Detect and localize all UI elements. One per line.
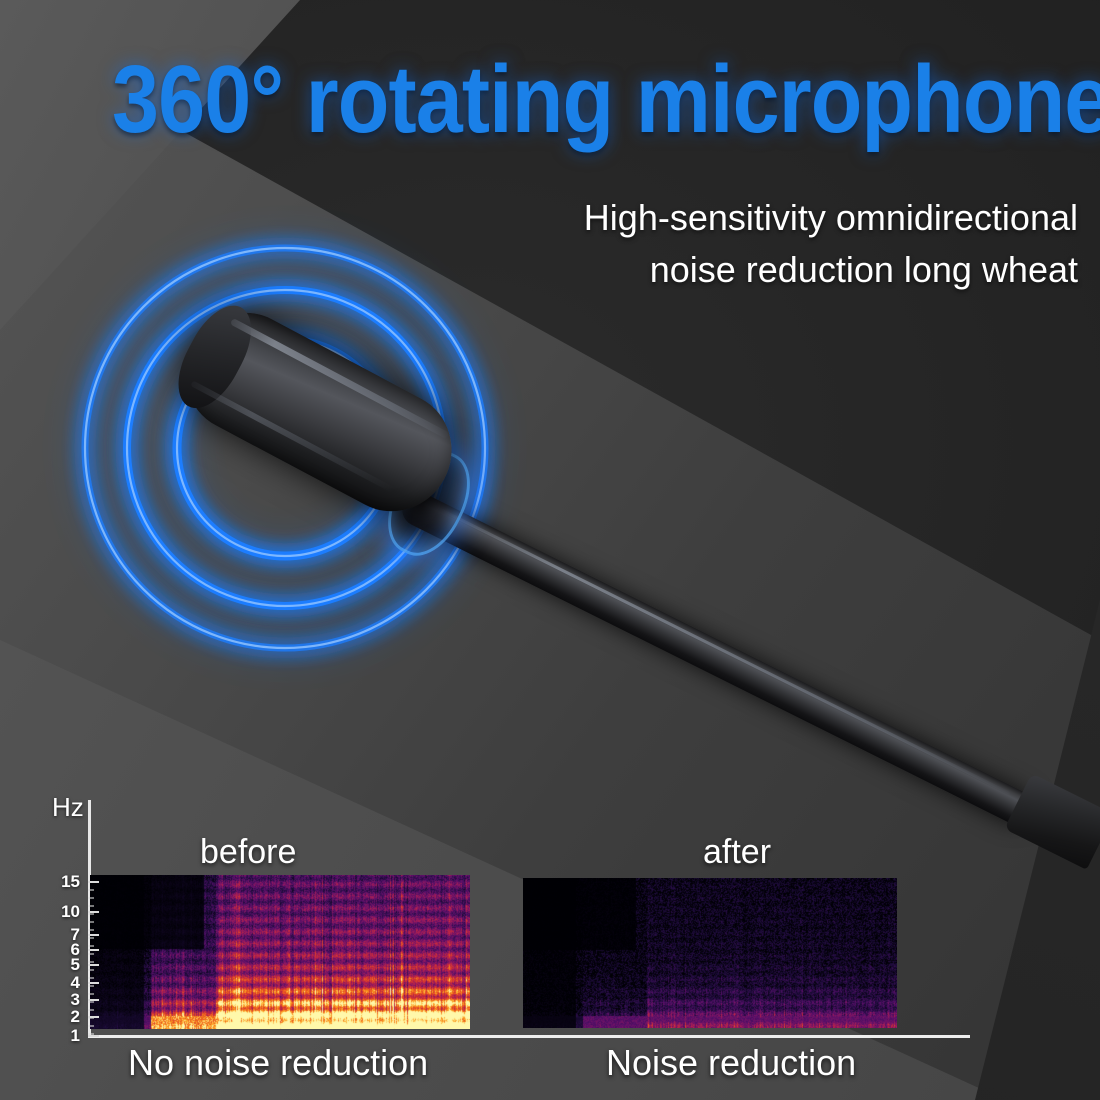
x-axis-line [88,1035,970,1038]
y-minor-tick [88,897,94,899]
y-minor-tick [88,953,94,955]
y-minor-tick [88,905,94,907]
y-minor-tick [88,889,94,891]
after-footer-label: Noise reduction [606,1042,856,1084]
subtitle: High-sensitivity omnidirectional noise r… [438,192,1078,296]
y-minor-tick [88,993,94,995]
y-tick-mark [88,949,99,951]
page-title: 360° rotating microphone [112,52,974,148]
y-minor-tick [88,1033,94,1035]
y-tick-mark [88,964,99,966]
y-tick-label: 2 [0,1007,80,1027]
y-minor-tick [88,929,94,931]
subtitle-line-1: High-sensitivity omnidirectional [438,192,1078,244]
y-minor-tick [88,937,94,939]
y-minor-tick [88,1009,94,1011]
y-tick-mark [88,881,99,883]
y-minor-tick [88,921,94,923]
y-tick-mark [88,934,99,936]
after-caption: after [703,833,771,872]
y-minor-tick [88,969,94,971]
y-minor-tick [88,1025,94,1027]
subtitle-line-2: noise reduction long wheat [438,244,1078,296]
before-footer-label: No noise reduction [128,1042,428,1084]
y-minor-tick [88,1017,94,1019]
y-tick-label: 10 [0,902,80,922]
product-banner: 360° rotating microphone High-sensitivit… [0,0,1100,1100]
spectrogram-after [523,878,897,1028]
y-tick-mark [88,982,99,984]
y-tick-label: 15 [0,872,80,892]
y-minor-tick [88,961,94,963]
y-minor-tick [88,977,94,979]
spectrogram-before [90,875,470,1029]
before-caption: before [200,833,296,872]
y-axis-ticks: 15107654321 [0,0,80,1100]
y-minor-tick [88,1001,94,1003]
y-tick-mark [88,1035,99,1037]
y-tick-label: 1 [0,1026,80,1046]
y-tick-label: 5 [0,955,80,975]
y-minor-tick [88,945,94,947]
y-minor-tick [88,985,94,987]
y-minor-tick [88,913,94,915]
